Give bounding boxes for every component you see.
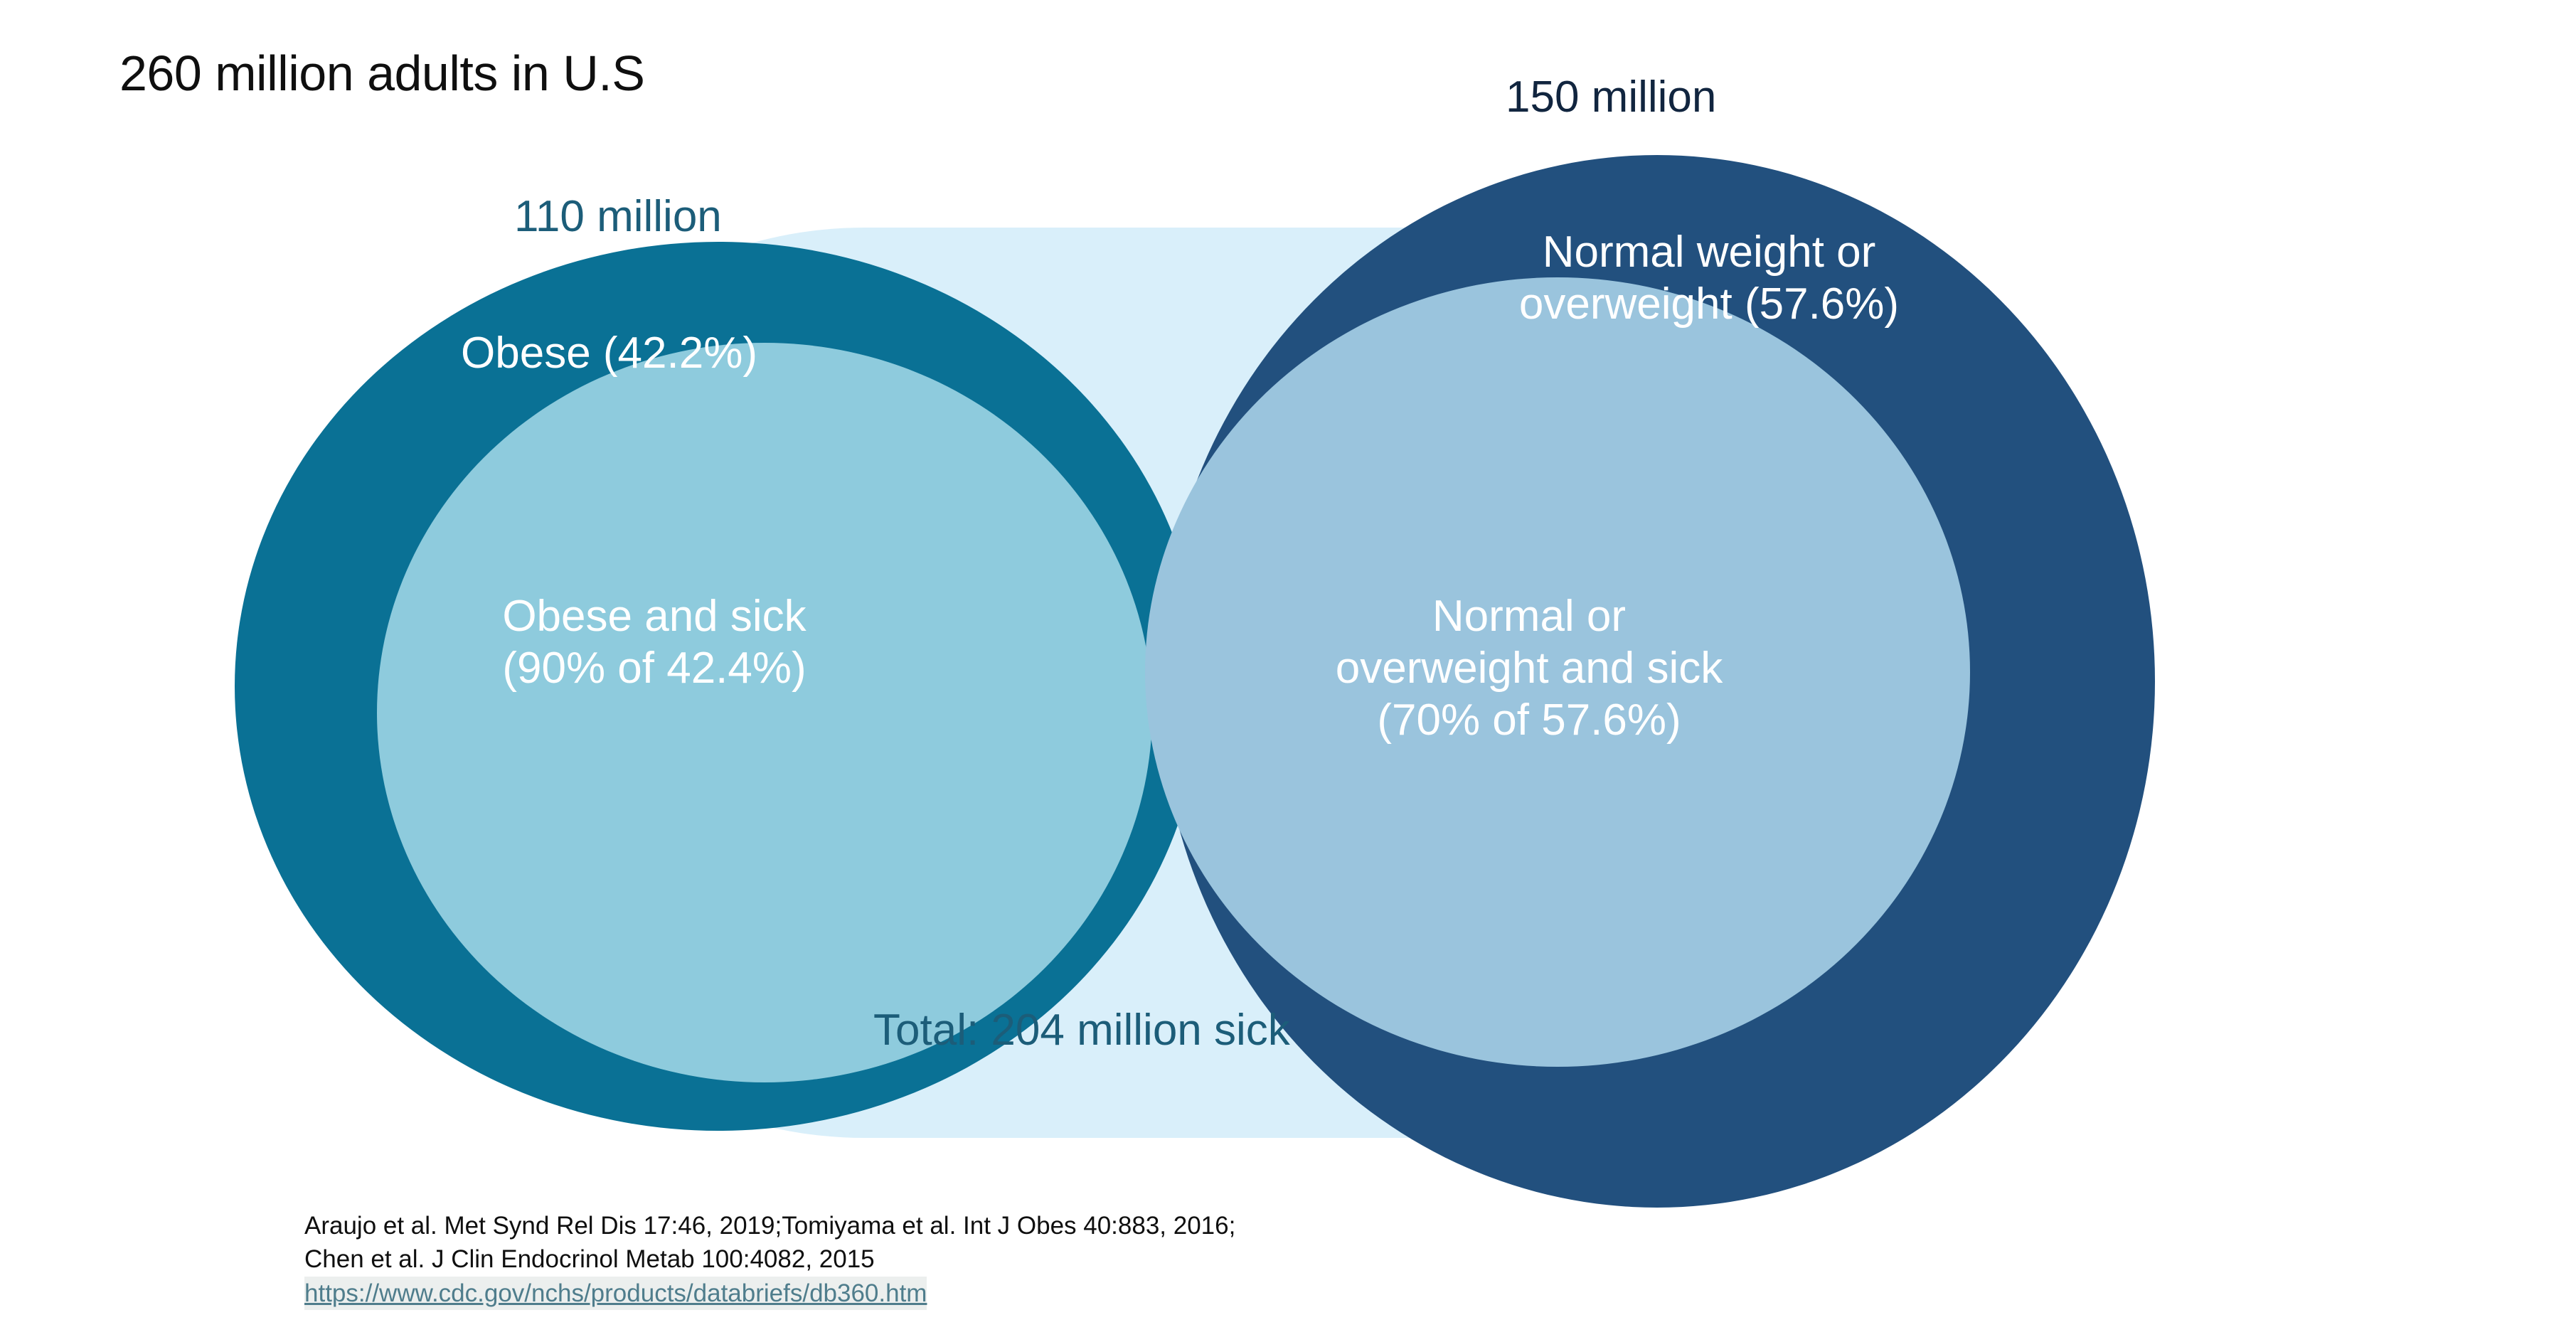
left-inner-subset-shape xyxy=(377,343,1152,1082)
right-subset-label: Normal or overweight and sick (70% of 57… xyxy=(1266,590,1792,746)
footnotes: Araujo et al. Met Synd Rel Dis 17:46, 20… xyxy=(304,1209,1235,1310)
citation-line-2: Chen et al. J Clin Endocrinol Metab 100:… xyxy=(304,1242,1235,1276)
total-sick-label: Total: 204 million sick xyxy=(873,1004,1290,1056)
source-link[interactable]: https://www.cdc.gov/nchs/products/databr… xyxy=(304,1277,927,1310)
citation-line-1: Araujo et al. Met Synd Rel Dis 17:46, 20… xyxy=(304,1209,1235,1242)
page-title: 260 million adults in U.S xyxy=(119,44,644,103)
left-set-count-label: 110 million xyxy=(514,191,722,243)
left-set-label: Obese (42.2%) xyxy=(461,327,757,379)
venn-diagram: 260 million adults in U.S 110 million 15… xyxy=(0,0,2576,1342)
right-set-label: Normal weight or overweight (57.6%) xyxy=(1467,226,1951,330)
right-set-count-label: 150 million xyxy=(1506,71,1716,123)
left-subset-label: Obese and sick (90% of 42.4%) xyxy=(398,590,910,694)
